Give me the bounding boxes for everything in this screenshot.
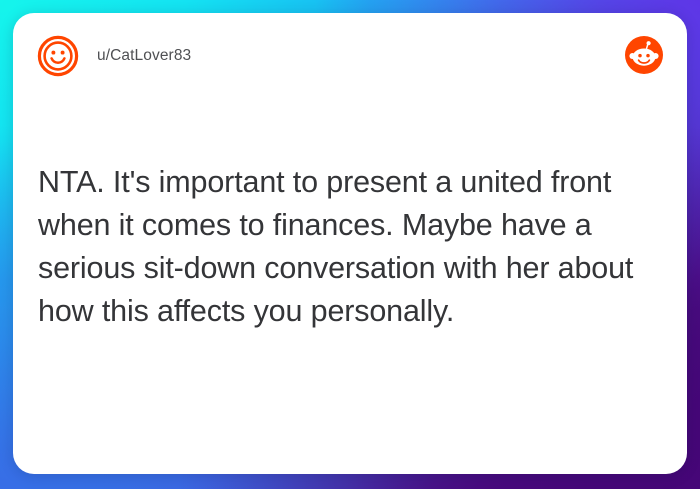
reddit-snoo-icon [624, 35, 664, 75]
post-card: u/CatLover83 [13, 13, 687, 474]
post-body-text: NTA. It's important to present a united … [38, 161, 665, 333]
avatar[interactable] [37, 35, 79, 77]
gradient-background: u/CatLover83 [0, 0, 700, 489]
smiley-face-avatar-icon [37, 35, 79, 77]
reddit-logo[interactable] [624, 35, 664, 75]
username-label: u/CatLover83 [97, 47, 191, 65]
post-header: u/CatLover83 [13, 13, 687, 109]
